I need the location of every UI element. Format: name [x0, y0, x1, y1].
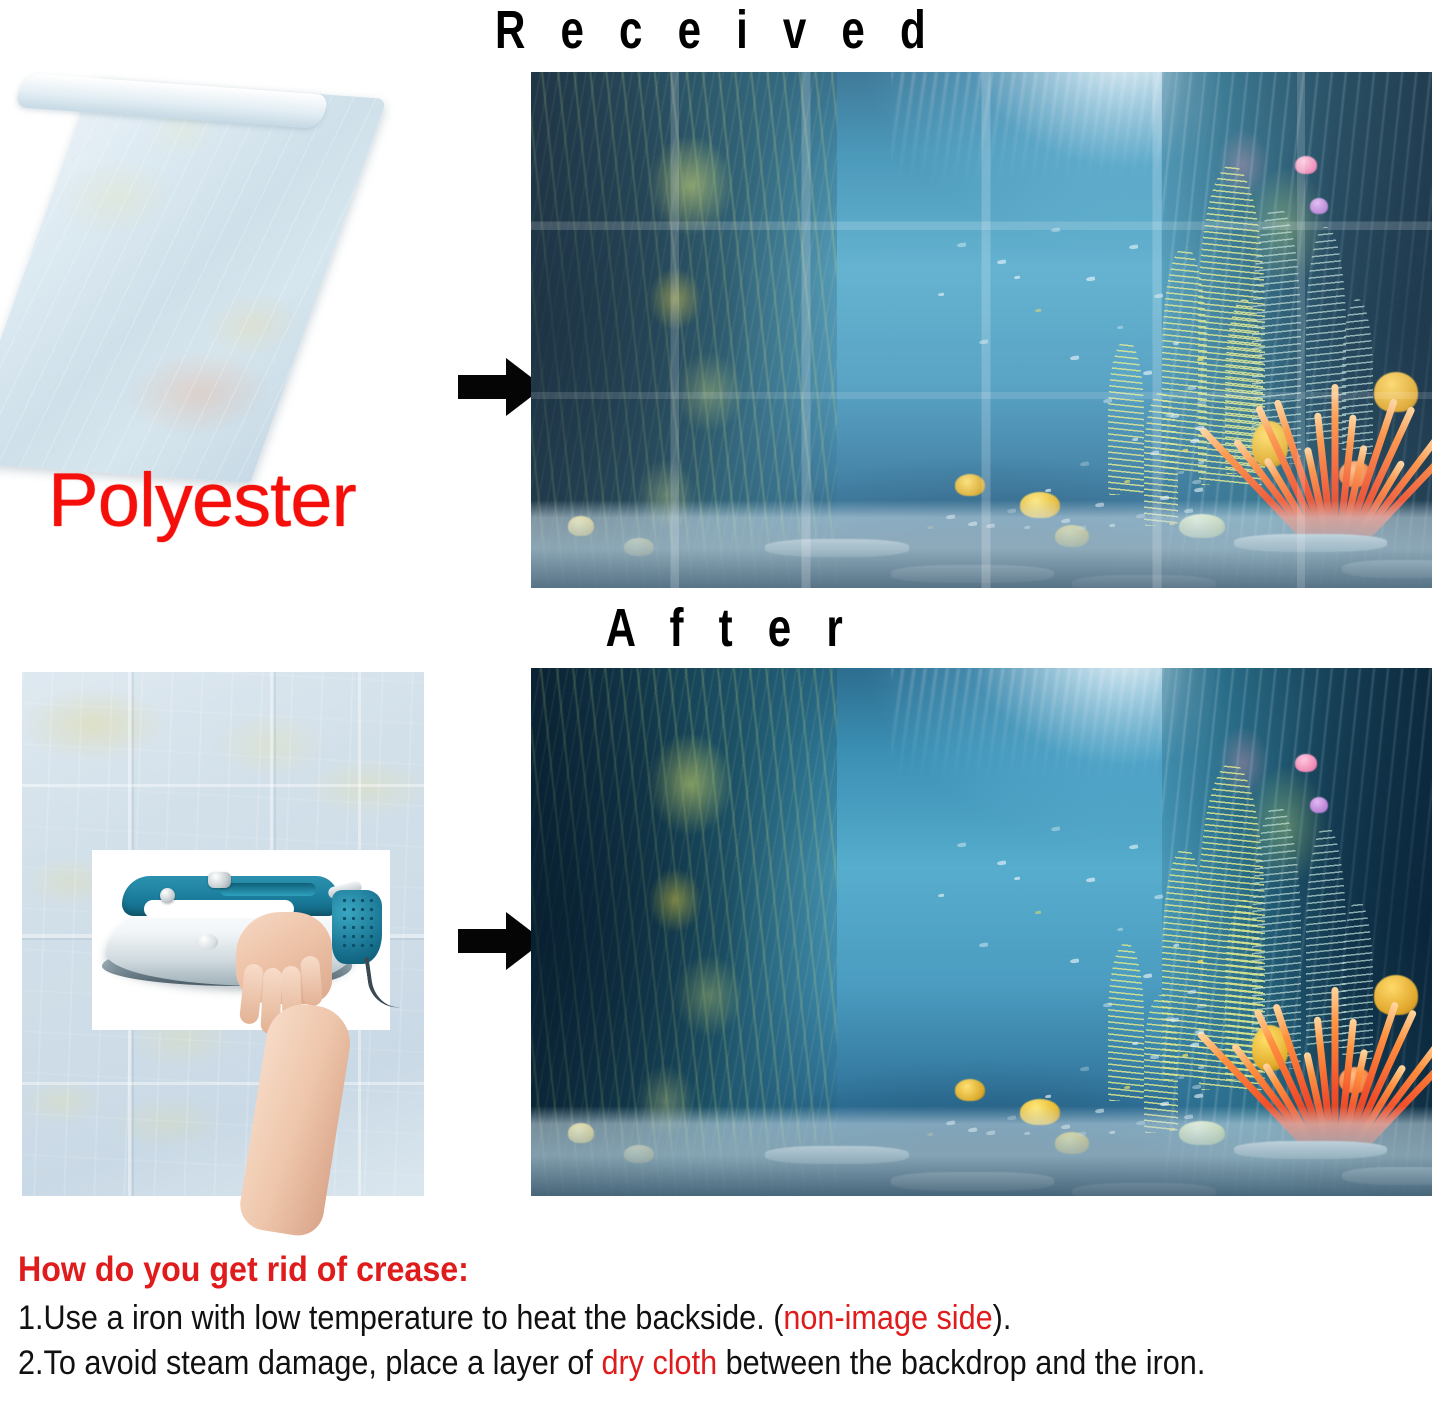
- instruction-line-2: 2.To avoid steam damage, place a layer o…: [18, 1341, 1287, 1386]
- after-backdrop-photo: [531, 668, 1432, 1196]
- iron-steam-slot: [220, 883, 316, 896]
- fish: [1190, 438, 1199, 443]
- instruction-1-highlight: non-image side: [783, 1299, 992, 1337]
- fish: [1132, 437, 1138, 441]
- fold-line-h1: [22, 784, 424, 787]
- page-title-received: R e c e i v e d: [495, 0, 885, 64]
- instruction-2-part-a: 2.To avoid steam damage, place a layer o…: [18, 1344, 601, 1382]
- iron-steam-knob: [208, 872, 231, 888]
- sea-fan: [1108, 943, 1144, 1101]
- fish: [1196, 400, 1205, 405]
- sea-floor: [531, 1106, 1432, 1196]
- fish: [1051, 227, 1060, 232]
- coral: [955, 474, 985, 496]
- fish: [1014, 275, 1020, 279]
- instructions-heading: How do you get rid of crease:: [18, 1248, 1315, 1292]
- fish: [1044, 1094, 1050, 1098]
- fish: [938, 292, 944, 296]
- reef-scene-received: [531, 72, 1432, 588]
- instruction-1-part-b: ).: [993, 1299, 1012, 1337]
- fish: [1116, 325, 1122, 329]
- fish: [1197, 1065, 1203, 1069]
- polyester-label: Polyester: [48, 458, 356, 544]
- coral: [1310, 797, 1328, 813]
- coral: [1295, 156, 1317, 174]
- fish: [978, 942, 987, 947]
- instruction-line-1: 1.Use a iron with low temperature to hea…: [18, 1296, 1287, 1341]
- iron-heel-rest: [332, 890, 382, 964]
- fabric-roll-photo: [22, 88, 422, 488]
- fish: [1149, 450, 1158, 455]
- fish: [1187, 989, 1196, 994]
- fish: [1079, 1066, 1088, 1071]
- instructions-block: How do you get rid of crease: 1.Use a ir…: [18, 1248, 1428, 1386]
- instruction-2-highlight: dry cloth: [601, 1344, 717, 1382]
- fabric-sheet: [0, 78, 387, 483]
- coral: [1295, 754, 1317, 772]
- page-title-after: A f t e r: [597, 598, 862, 660]
- reef-scene-after: [531, 668, 1432, 1196]
- arrow-shaft: [458, 375, 510, 399]
- fish: [996, 860, 1005, 865]
- fish: [1197, 460, 1203, 464]
- coral: [1310, 198, 1328, 214]
- instruction-2-part-b: between the backdrop and the iron.: [717, 1344, 1205, 1382]
- iron-temperature-dial: [196, 934, 218, 950]
- iron-spray-button: [160, 888, 175, 903]
- fold-line-h3: [22, 1082, 424, 1085]
- sea-floor: [531, 500, 1432, 588]
- iron-power-cord: [364, 951, 421, 1011]
- coral: [955, 1079, 985, 1101]
- arrow-shaft: [458, 929, 510, 953]
- fish: [1116, 927, 1122, 931]
- fish: [1079, 461, 1088, 466]
- received-backdrop-photo: [531, 72, 1432, 588]
- sea-fan: [1108, 340, 1144, 495]
- instruction-1-part-a: 1.Use a iron with low temperature to hea…: [18, 1299, 783, 1337]
